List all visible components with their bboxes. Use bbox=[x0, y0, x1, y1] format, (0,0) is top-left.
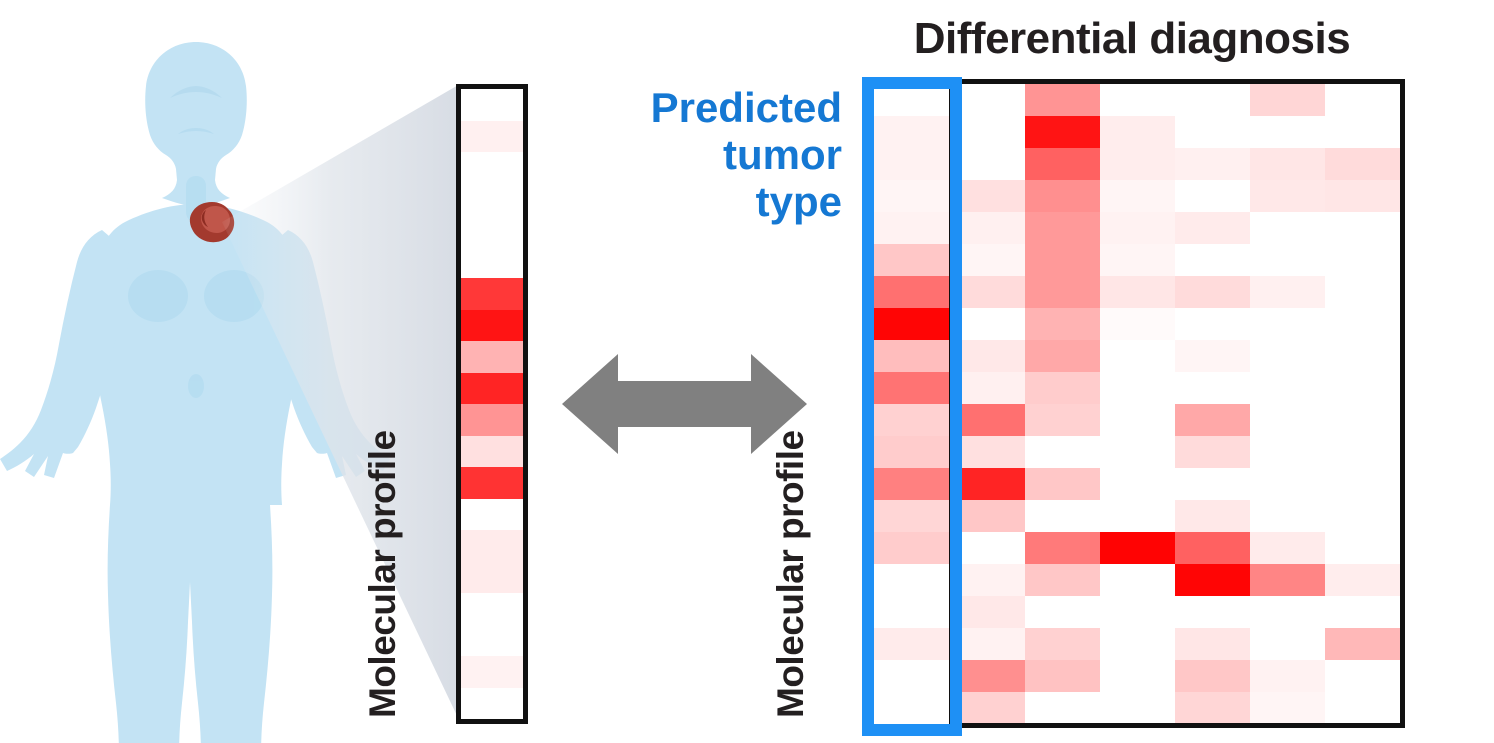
heatmap-cell bbox=[874, 212, 950, 244]
heatmap-cell bbox=[1100, 468, 1175, 500]
heatmap-cell bbox=[950, 404, 1025, 436]
heatmap-cell bbox=[1175, 436, 1250, 468]
heatmap-cell bbox=[1025, 308, 1100, 340]
heatmap-cell bbox=[1100, 564, 1175, 596]
heatmap-cell bbox=[1175, 180, 1250, 212]
heatmap-cell bbox=[1325, 308, 1400, 340]
heatmap-cell bbox=[950, 596, 1025, 628]
heatmap-cell bbox=[950, 340, 1025, 372]
heatmap-cell bbox=[1250, 564, 1325, 596]
heatmap-cell bbox=[874, 180, 950, 212]
predicted-tumor-type-column bbox=[874, 84, 950, 724]
heatmap-cell bbox=[461, 247, 523, 279]
heatmap-cell bbox=[1250, 500, 1325, 532]
heatmap-cell bbox=[1100, 692, 1175, 724]
heatmap-cell bbox=[1100, 436, 1175, 468]
heatmap-cell bbox=[461, 436, 523, 468]
heatmap-cell bbox=[1025, 564, 1100, 596]
heatmap-cell bbox=[874, 148, 950, 180]
heatmap-cell bbox=[1100, 660, 1175, 692]
heatmap-cell bbox=[1250, 276, 1325, 308]
heatmap-cell bbox=[1325, 660, 1400, 692]
heatmap-cell bbox=[1250, 532, 1325, 564]
heatmap-cell bbox=[874, 628, 950, 660]
heatmap-cell bbox=[1250, 596, 1325, 628]
heatmap-cell bbox=[1325, 276, 1400, 308]
heatmap-cell bbox=[874, 404, 950, 436]
heatmap-cell bbox=[950, 212, 1025, 244]
heatmap-cell bbox=[874, 308, 950, 340]
heatmap-cell bbox=[1325, 148, 1400, 180]
heatmap-cell bbox=[1025, 692, 1100, 724]
heatmap-cell bbox=[1025, 212, 1100, 244]
heatmap-cell bbox=[1175, 500, 1250, 532]
heatmap-cell bbox=[874, 468, 950, 500]
page-title: Differential diagnosis bbox=[862, 14, 1402, 64]
heatmap-cell bbox=[461, 625, 523, 657]
heatmap-cell bbox=[1250, 340, 1325, 372]
heatmap-cell bbox=[1325, 212, 1400, 244]
heatmap-cell bbox=[1325, 116, 1400, 148]
heatmap-cell bbox=[1175, 212, 1250, 244]
heatmap-cell bbox=[874, 500, 950, 532]
heatmap-cell bbox=[1175, 276, 1250, 308]
heatmap-cell bbox=[1325, 628, 1400, 660]
candidate-column bbox=[1175, 84, 1250, 724]
heatmap-cell bbox=[1250, 404, 1325, 436]
heatmap-cell bbox=[461, 184, 523, 216]
heatmap-cell bbox=[1175, 532, 1250, 564]
heatmap-cell bbox=[1250, 212, 1325, 244]
heatmap-cell bbox=[1100, 532, 1175, 564]
heatmap-cell bbox=[1325, 500, 1400, 532]
heatmap-cell bbox=[1250, 308, 1325, 340]
heatmap-cell bbox=[461, 310, 523, 342]
heatmap-cell bbox=[874, 244, 950, 276]
predicted-label-line-1: Predicted bbox=[600, 84, 842, 131]
heatmap-cell bbox=[1025, 340, 1100, 372]
heatmap-cell bbox=[1175, 628, 1250, 660]
heatmap-cell bbox=[874, 596, 950, 628]
heatmap-cell bbox=[1025, 244, 1100, 276]
heatmap-cell bbox=[1175, 468, 1250, 500]
predicted-label-line-2: tumor bbox=[600, 131, 842, 178]
heatmap-cell bbox=[874, 276, 950, 308]
heatmap-cell bbox=[1025, 468, 1100, 500]
heatmap-cell bbox=[461, 688, 523, 720]
heatmap-cell bbox=[1250, 148, 1325, 180]
heatmap-cell bbox=[461, 530, 523, 562]
heatmap-cell bbox=[461, 467, 523, 499]
heatmap-cell bbox=[461, 215, 523, 247]
heatmap-cell bbox=[1175, 372, 1250, 404]
heatmap-cell bbox=[1025, 628, 1100, 660]
predicted-label-line-3: type bbox=[600, 178, 842, 225]
heatmap-cell bbox=[950, 148, 1025, 180]
heatmap-cell bbox=[1175, 148, 1250, 180]
candidate-column bbox=[1100, 84, 1175, 724]
heatmap-cell bbox=[1175, 84, 1250, 116]
heatmap-cell bbox=[1025, 276, 1100, 308]
candidate-column bbox=[1025, 84, 1100, 724]
heatmap-cell bbox=[1175, 564, 1250, 596]
heatmap-cell bbox=[1025, 596, 1100, 628]
heatmap-cell bbox=[1175, 116, 1250, 148]
heatmap-cell bbox=[1100, 212, 1175, 244]
heatmap-cell bbox=[950, 628, 1025, 660]
heatmap-cell bbox=[1175, 596, 1250, 628]
differential-diagnosis-heatmap bbox=[874, 84, 1400, 724]
heatmap-cell bbox=[1025, 660, 1100, 692]
heatmap-cell bbox=[1325, 596, 1400, 628]
candidate-column bbox=[950, 84, 1025, 724]
heatmap-cell bbox=[874, 116, 950, 148]
heatmap-cell bbox=[1325, 372, 1400, 404]
heatmap-cell bbox=[1100, 500, 1175, 532]
heatmap-cell bbox=[1025, 180, 1100, 212]
heatmap-cell bbox=[1250, 660, 1325, 692]
heatmap-cell bbox=[461, 121, 523, 153]
heatmap-cell bbox=[1250, 436, 1325, 468]
heatmap-cell bbox=[1100, 404, 1175, 436]
heatmap-cell bbox=[1325, 532, 1400, 564]
heatmap-cell bbox=[461, 404, 523, 436]
heatmap-cell bbox=[1100, 116, 1175, 148]
heatmap-cell bbox=[950, 660, 1025, 692]
heatmap-cell bbox=[1175, 308, 1250, 340]
heatmap-cell bbox=[950, 532, 1025, 564]
heatmap-cell bbox=[950, 436, 1025, 468]
heatmap-cell bbox=[1250, 84, 1325, 116]
heatmap-cell bbox=[874, 692, 950, 724]
heatmap-cell bbox=[1100, 148, 1175, 180]
heatmap-cell bbox=[1175, 692, 1250, 724]
heatmap-cell bbox=[1100, 244, 1175, 276]
heatmap-cell bbox=[1175, 340, 1250, 372]
candidate-column bbox=[1325, 84, 1400, 724]
zoom-callout-wedge bbox=[210, 70, 470, 730]
heatmap-cell bbox=[950, 116, 1025, 148]
figure-canvas: Molecular profile Predicted tumor type D… bbox=[0, 0, 1494, 743]
heatmap-cell bbox=[1025, 436, 1100, 468]
heatmap-cell bbox=[1325, 340, 1400, 372]
heatmap-cell bbox=[1250, 372, 1325, 404]
heatmap-cell bbox=[1250, 468, 1325, 500]
heatmap-cell bbox=[950, 244, 1025, 276]
candidate-column bbox=[1250, 84, 1325, 724]
heatmap-cell bbox=[950, 372, 1025, 404]
heatmap-cell bbox=[1250, 628, 1325, 660]
heatmap-cell bbox=[1250, 244, 1325, 276]
heatmap-cell bbox=[1100, 372, 1175, 404]
heatmap-cell bbox=[1175, 404, 1250, 436]
heatmap-cell bbox=[1100, 340, 1175, 372]
heatmap-cell bbox=[1325, 692, 1400, 724]
heatmap-cell bbox=[1025, 84, 1100, 116]
heatmap-cell bbox=[461, 341, 523, 373]
heatmap-cell bbox=[874, 340, 950, 372]
heatmap-cell bbox=[461, 89, 523, 121]
heatmap-cell bbox=[1100, 596, 1175, 628]
heatmap-cell bbox=[950, 180, 1025, 212]
right-heatmap-axis-label: Molecular profile bbox=[770, 430, 812, 718]
heatmap-cell bbox=[461, 373, 523, 405]
heatmap-cell bbox=[1175, 244, 1250, 276]
heatmap-cell bbox=[950, 276, 1025, 308]
heatmap-cell bbox=[950, 692, 1025, 724]
heatmap-cell bbox=[1250, 180, 1325, 212]
heatmap-cell bbox=[1025, 500, 1100, 532]
heatmap-cell bbox=[1025, 532, 1100, 564]
heatmap-cell bbox=[461, 499, 523, 531]
heatmap-cell bbox=[461, 562, 523, 594]
heatmap-cell bbox=[1325, 180, 1400, 212]
left-heatmap-axis-label: Molecular profile bbox=[362, 430, 404, 718]
heatmap-cell bbox=[1100, 276, 1175, 308]
heatmap-cell bbox=[1250, 116, 1325, 148]
heatmap-cell bbox=[950, 84, 1025, 116]
heatmap-cell bbox=[1325, 404, 1400, 436]
patient-molecular-profile-heatmap bbox=[456, 84, 528, 724]
heatmap-cell bbox=[950, 564, 1025, 596]
heatmap-cell bbox=[1325, 564, 1400, 596]
heatmap-cell bbox=[950, 500, 1025, 532]
heatmap-cell bbox=[874, 660, 950, 692]
heatmap-cell bbox=[461, 278, 523, 310]
heatmap-cell bbox=[1025, 404, 1100, 436]
heatmap-cell bbox=[1325, 436, 1400, 468]
heatmap-cell bbox=[1325, 468, 1400, 500]
heatmap-cell bbox=[950, 308, 1025, 340]
heatmap-cell bbox=[874, 84, 950, 116]
heatmap-cell bbox=[1025, 116, 1100, 148]
heatmap-cell bbox=[1100, 84, 1175, 116]
heatmap-cell bbox=[1100, 628, 1175, 660]
heatmap-cell bbox=[461, 593, 523, 625]
heatmap-cell bbox=[874, 564, 950, 596]
heatmap-cell bbox=[950, 468, 1025, 500]
heatmap-cell bbox=[874, 372, 950, 404]
heatmap-cell bbox=[1025, 148, 1100, 180]
heatmap-cell bbox=[1250, 692, 1325, 724]
heatmap-cell bbox=[1325, 244, 1400, 276]
heatmap-cell bbox=[461, 152, 523, 184]
heatmap-cell bbox=[1025, 372, 1100, 404]
predicted-tumor-type-label: Predicted tumor type bbox=[600, 84, 842, 225]
heatmap-cell bbox=[461, 656, 523, 688]
heatmap-cell bbox=[1100, 180, 1175, 212]
heatmap-cell bbox=[1325, 84, 1400, 116]
heatmap-cell bbox=[1175, 660, 1250, 692]
heatmap-cell bbox=[874, 532, 950, 564]
heatmap-cell bbox=[1100, 308, 1175, 340]
heatmap-cell bbox=[874, 436, 950, 468]
